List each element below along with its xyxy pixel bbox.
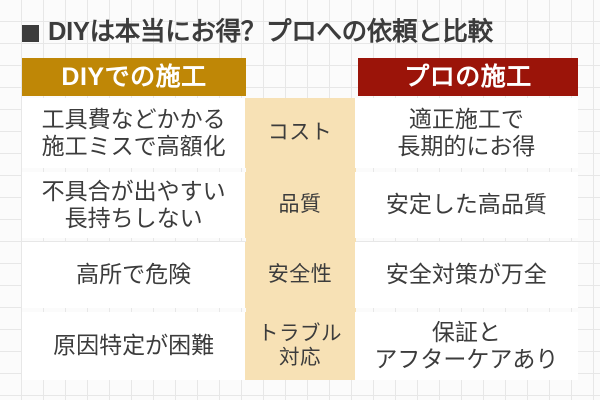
row-diy-line2: 施工ミスで高額化 — [42, 133, 226, 160]
column-header-diy: DIYでの施工 — [22, 58, 246, 96]
row-pro-line2: 長期的にお得 — [397, 133, 535, 160]
table-row: 原因特定が困難 トラブル 対応 保証と アフターケアあり — [22, 312, 578, 380]
row-pro-line1: 安定した高品質 — [386, 191, 547, 218]
row-diy-line1: 工具費などかかる — [42, 106, 226, 133]
row-diy-cell: 工具費などかかる 施工ミスで高額化 — [22, 98, 245, 168]
table-row: 不具合が出やすい 長持ちしない 品質 安定した高品質 — [22, 172, 578, 238]
row-pro-line2: アフターケアあり — [374, 346, 558, 373]
table-row: 工具費などかかる 施工ミスで高額化 コスト 適正施工で 長期的にお得 — [22, 98, 578, 168]
row-label-cell: トラブル 対応 — [245, 312, 355, 380]
column-header-pro: プロの施工 — [358, 58, 578, 96]
black-square-bullet-icon — [22, 25, 39, 42]
column-header-diy-label: DIYでの施工 — [61, 65, 206, 90]
row-label-cell: 安全性 — [245, 242, 355, 308]
row-label-line2: 対応 — [258, 346, 342, 370]
row-pro-cell: 安定した高品質 — [355, 172, 578, 238]
row-diy-line1: 不具合が出やすい — [42, 178, 226, 205]
row-pro-line1: 保証と — [374, 319, 558, 346]
row-label-cell: 品質 — [245, 172, 355, 238]
row-label-line1: トラブル — [258, 322, 342, 346]
row-diy-line2: 長持ちしない — [42, 205, 226, 232]
table-row: 高所で危険 安全性 安全対策が万全 — [22, 242, 578, 308]
row-label-line1: 安全性 — [268, 263, 333, 288]
row-pro-cell: 保証と アフターケアあり — [355, 312, 578, 380]
row-diy-cell: 原因特定が困難 — [22, 312, 245, 380]
page-title-text: DIYは本当にお得？プロへの依頼と比較 — [48, 20, 493, 46]
row-label-cell: コスト — [245, 98, 355, 168]
row-label-line1: 品質 — [279, 193, 322, 218]
row-diy-cell: 不具合が出やすい 長持ちしない — [22, 172, 245, 238]
row-diy-cell: 高所で危険 — [22, 242, 245, 308]
page-title: DIYは本当にお得？プロへの依頼と比較 — [22, 14, 578, 52]
row-diy-line1: 原因特定が困難 — [53, 332, 214, 359]
row-pro-line1: 安全対策が万全 — [386, 261, 547, 288]
comparison-infographic: DIYは本当にお得？プロへの依頼と比較 DIYでの施工 プロの施工 工具費などか… — [0, 0, 600, 400]
row-pro-cell: 安全対策が万全 — [355, 242, 578, 308]
row-pro-line1: 適正施工で — [397, 106, 535, 133]
row-diy-line1: 高所で危険 — [76, 261, 191, 288]
row-label-line1: コスト — [268, 121, 333, 146]
row-pro-cell: 適正施工で 長期的にお得 — [355, 98, 578, 168]
column-header-pro-label: プロの施工 — [404, 65, 532, 90]
